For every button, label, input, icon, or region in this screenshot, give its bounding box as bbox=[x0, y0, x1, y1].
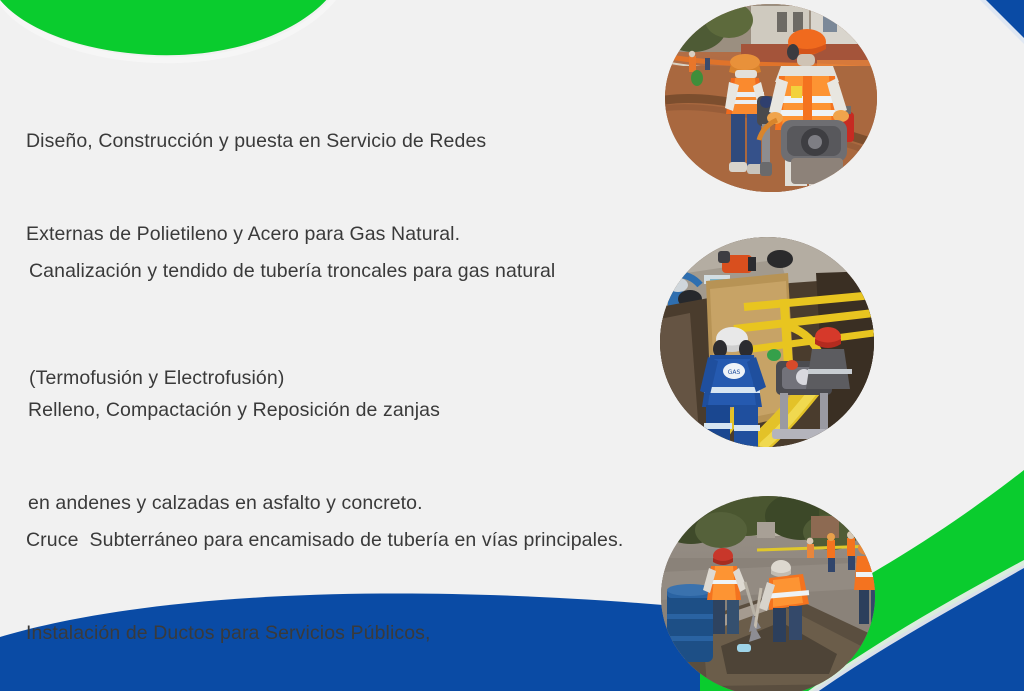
text-block-cruce-subterraneo: Cruce Subterráneo para encamisado de tub… bbox=[26, 463, 623, 691]
text-line: Cruce Subterráneo para encamisado de tub… bbox=[26, 525, 623, 556]
blue-corner-top-right-shape bbox=[985, 0, 1024, 40]
slide-canvas: Diseño, Construcción y puesta en Servici… bbox=[0, 0, 1024, 691]
photo-excavacion-via bbox=[661, 496, 875, 691]
text-line: Relleno, Compactación y Reposición de za… bbox=[28, 395, 440, 426]
text-line: Diseño, Construcción y puesta en Servici… bbox=[26, 126, 486, 157]
svg-text:GAS: GAS bbox=[728, 369, 741, 376]
photo-zanja-tuberia-image: GAS bbox=[660, 237, 874, 447]
photo-zanja-tuberia: GAS bbox=[660, 237, 874, 447]
green-blob-highlight bbox=[0, 0, 352, 63]
photo-excavacion-via-image bbox=[661, 496, 875, 691]
photo-corte-pavimento-image bbox=[665, 4, 877, 192]
green-blob-top-left-shape bbox=[0, 0, 345, 55]
text-line: Canalización y tendido de tubería tronca… bbox=[29, 256, 555, 287]
blue-corner-top-right-edge bbox=[980, 0, 1024, 44]
photo-corte-pavimento bbox=[665, 4, 877, 192]
text-line: Instalación de Ductos para Servicios Púb… bbox=[26, 618, 623, 649]
